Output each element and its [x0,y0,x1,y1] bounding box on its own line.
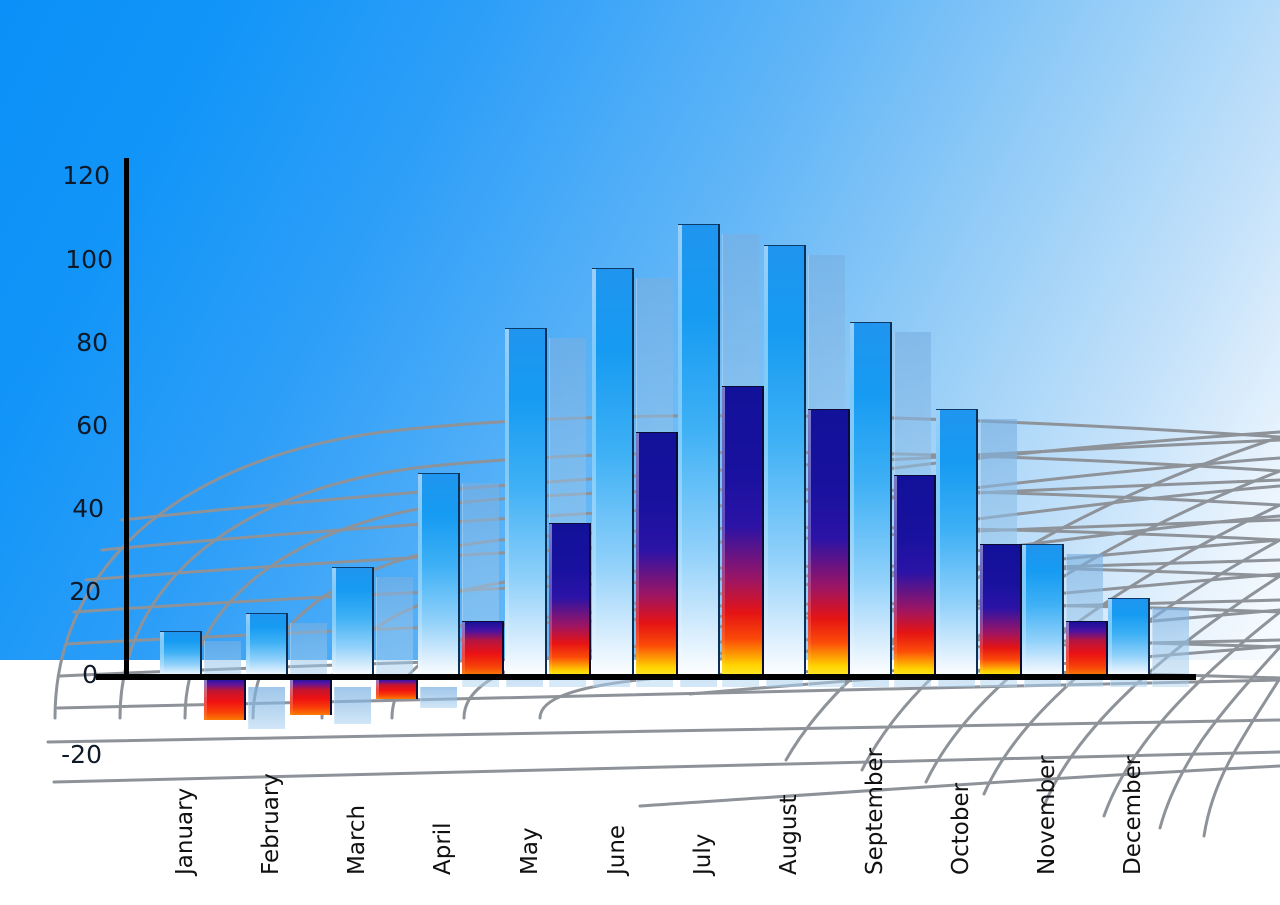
x-tick-label-june: June [606,825,629,875]
y-axis-zero-tick [98,675,152,678]
chart-canvas: 120100806040200-20 JanuaryFebruaryMarchA… [0,0,1280,905]
bar-fire-august[interactable] [808,409,850,677]
bar-fire-october[interactable] [980,544,1022,677]
bar-fire-january[interactable] [204,678,246,720]
bar-fire-march[interactable] [376,678,418,699]
y-tick-label-20: 20 [69,579,101,604]
bar-blue-march[interactable] [332,567,374,677]
bar-depth-shadow [248,687,285,729]
x-tick-label-october: October [950,783,973,875]
bar-depth-shadow [334,687,371,724]
bar-blue-october[interactable] [936,409,978,677]
y-tick-label-60: 60 [76,413,108,438]
x-tick-label-january: January [174,788,197,875]
bar-fire-july[interactable] [722,386,764,677]
bar-blue-july[interactable] [678,224,720,677]
bar-blue-june[interactable] [592,268,634,677]
bar-fire-september[interactable] [894,475,936,677]
y-tick-label-40: 40 [72,496,104,521]
bar-fire-february[interactable] [290,678,332,715]
x-tick-label-august: August [778,795,801,876]
bar-fire-november[interactable] [1066,621,1108,677]
y-tick-label-120: 120 [62,163,110,188]
bar-depth-shadow [376,577,413,687]
y-tick-label-0: 0 [82,662,98,687]
x-tick-label-september: September [864,748,887,875]
y-tick-label-80: 80 [76,330,108,355]
bar-fire-june[interactable] [636,432,678,677]
x-tick-label-february: February [260,773,283,875]
x-tick-label-may: May [519,827,542,875]
x-tick-label-april: April [432,822,455,875]
x-tick-label-december: December [1122,756,1145,875]
y-tick-label--20: -20 [61,742,102,767]
bar-blue-february[interactable] [246,613,288,677]
x-axis-line [96,674,1196,680]
y-axis-line [124,158,129,680]
bar-blue-december[interactable] [1108,598,1150,677]
bar-blue-may[interactable] [505,328,547,677]
bar-layer [0,0,1280,905]
bar-blue-november[interactable] [1022,544,1064,677]
y-tick-label-100: 100 [65,247,113,272]
bar-blue-august[interactable] [764,245,806,677]
bar-blue-september[interactable] [850,322,892,677]
bar-blue-april[interactable] [418,473,460,677]
bar-depth-shadow [420,687,457,708]
x-tick-label-november: November [1036,755,1059,875]
x-tick-label-july: July [692,834,715,875]
bar-fire-april[interactable] [462,621,504,677]
bar-blue-january[interactable] [160,631,202,677]
bar-fire-may[interactable] [549,523,591,677]
x-tick-label-march: March [346,805,369,875]
